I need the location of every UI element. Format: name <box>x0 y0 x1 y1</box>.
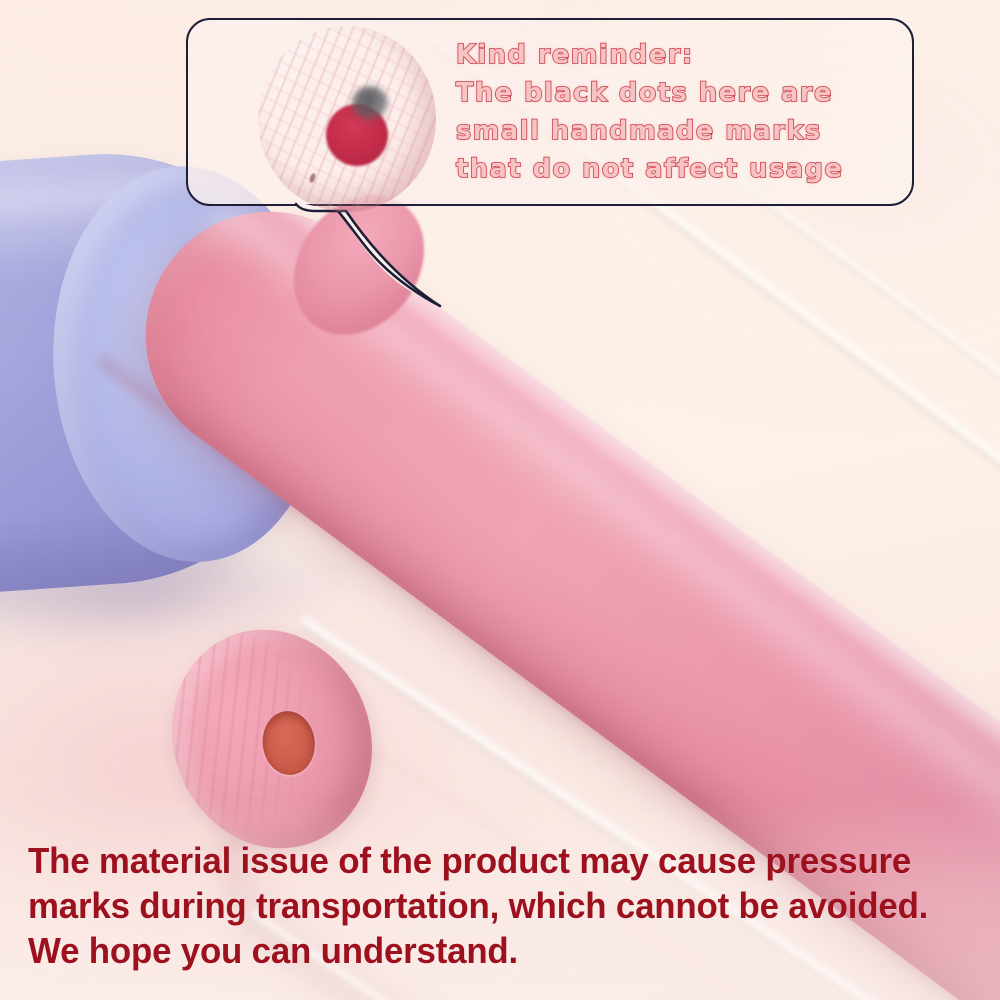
caption-line-3: We hope you can understand. <box>28 928 933 973</box>
callout-line-3: small handmade marks <box>456 112 904 150</box>
callout-text-block: Kind reminder: The black dots here are s… <box>456 36 904 188</box>
caption-line-2: marks during transportation, which canno… <box>28 883 933 928</box>
callout-line-1: Kind reminder: <box>456 36 904 74</box>
zoomed-product-tip-photo <box>258 26 436 212</box>
caption-line-1: The material issue of the product may ca… <box>28 838 933 883</box>
kind-reminder-callout: Kind reminder: The black dots here are s… <box>186 18 914 206</box>
transport-pressure-marks-caption: The material issue of the product may ca… <box>28 838 976 973</box>
black-dot-mark-icon <box>352 86 388 120</box>
callout-line-2: The black dots here are <box>456 74 904 112</box>
callout-line-4: that do not affect usage <box>456 150 904 188</box>
product-notice-image: Kind reminder: The black dots here are s… <box>0 0 1000 1000</box>
